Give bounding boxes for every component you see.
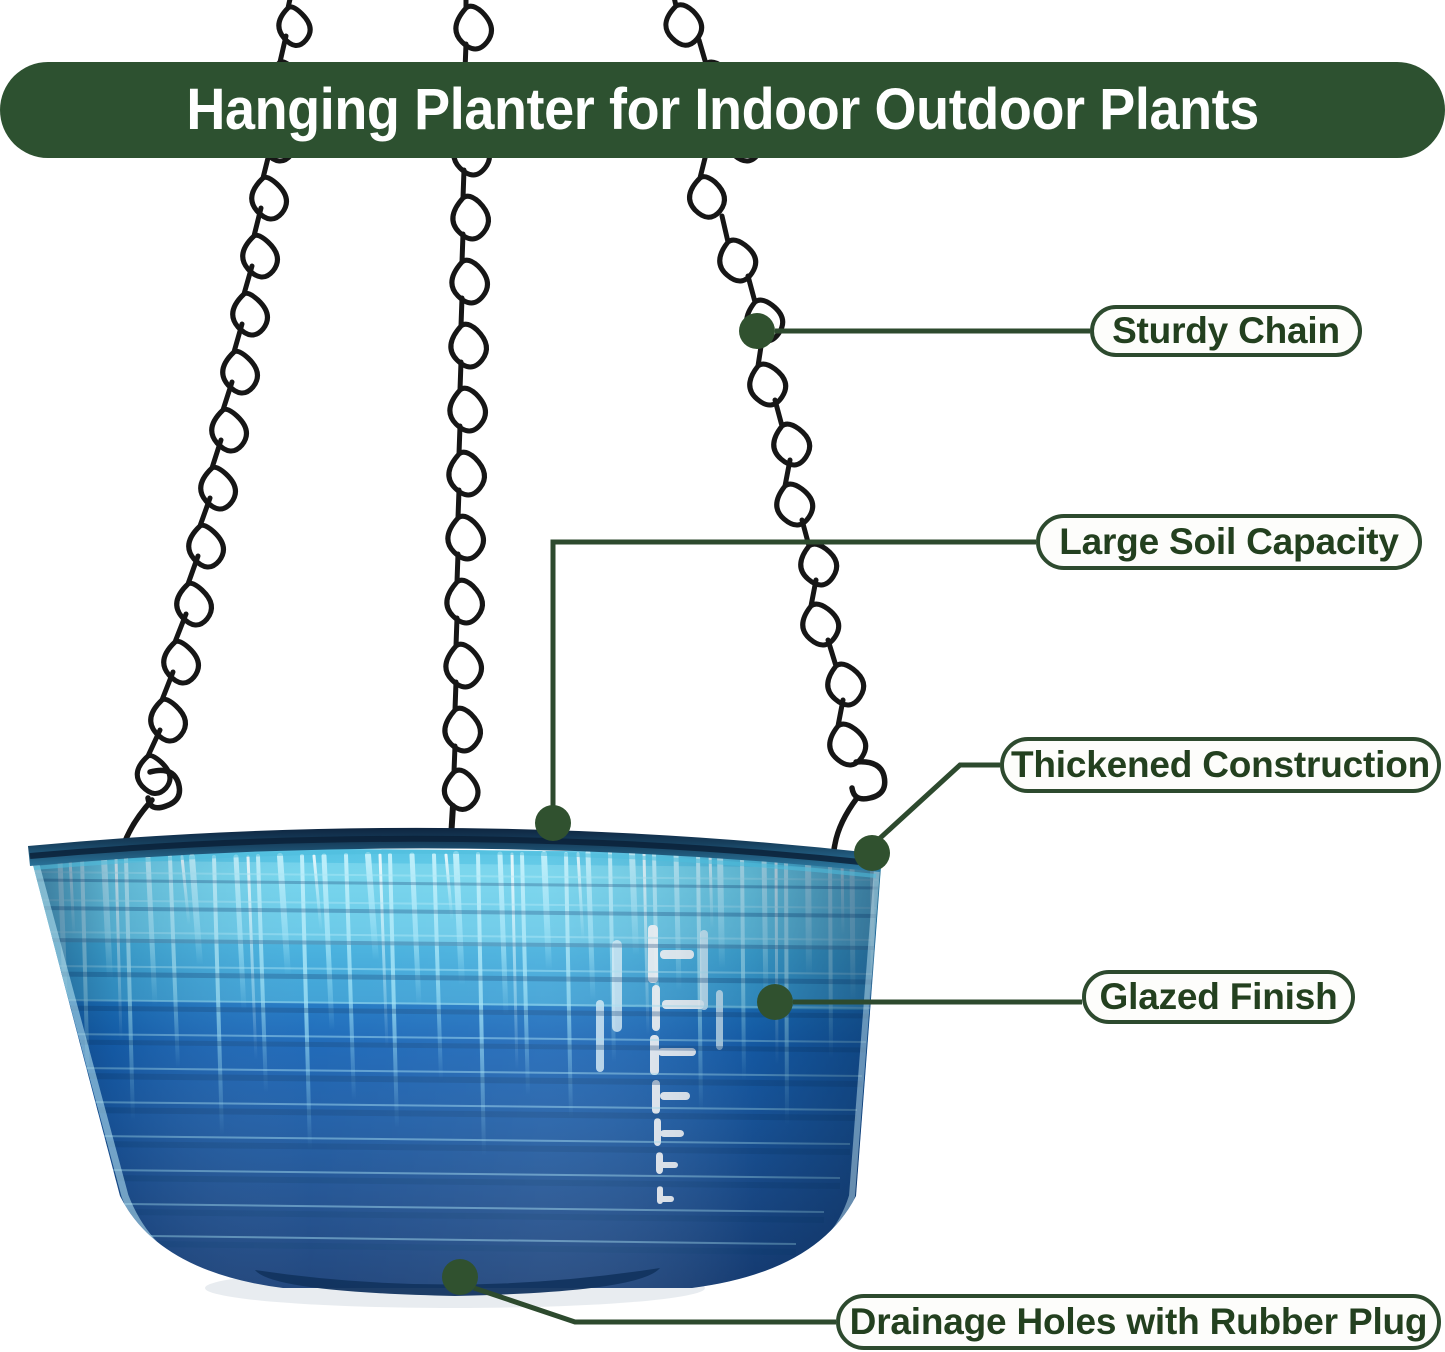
page-title: Hanging Planter for Indoor Outdoor Plant… xyxy=(186,81,1259,139)
planter-bowl xyxy=(28,828,882,1308)
callout-label-thickened-construction: Thickened Construction xyxy=(1011,746,1430,785)
callout-pill-large-soil-capacity: Large Soil Capacity xyxy=(1036,514,1422,570)
callout-label-large-soil-capacity: Large Soil Capacity xyxy=(1059,523,1399,562)
callout-pill-drainage-holes: Drainage Holes with Rubber Plug xyxy=(836,1294,1441,1350)
callout-label-glazed-finish: Glazed Finish xyxy=(1100,978,1338,1017)
infographic-canvas: Hanging Planter for Indoor Outdoor Plant… xyxy=(0,0,1445,1352)
callout-pill-sturdy-chain: Sturdy Chain xyxy=(1090,305,1362,357)
header-banner: Hanging Planter for Indoor Outdoor Plant… xyxy=(0,62,1445,158)
product-illustration xyxy=(0,0,1445,1352)
callout-pill-glazed-finish: Glazed Finish xyxy=(1082,970,1355,1024)
callout-label-sturdy-chain: Sturdy Chain xyxy=(1112,312,1340,351)
callout-pill-thickened-construction: Thickened Construction xyxy=(1000,737,1441,793)
callout-label-drainage-holes: Drainage Holes with Rubber Plug xyxy=(850,1303,1428,1342)
